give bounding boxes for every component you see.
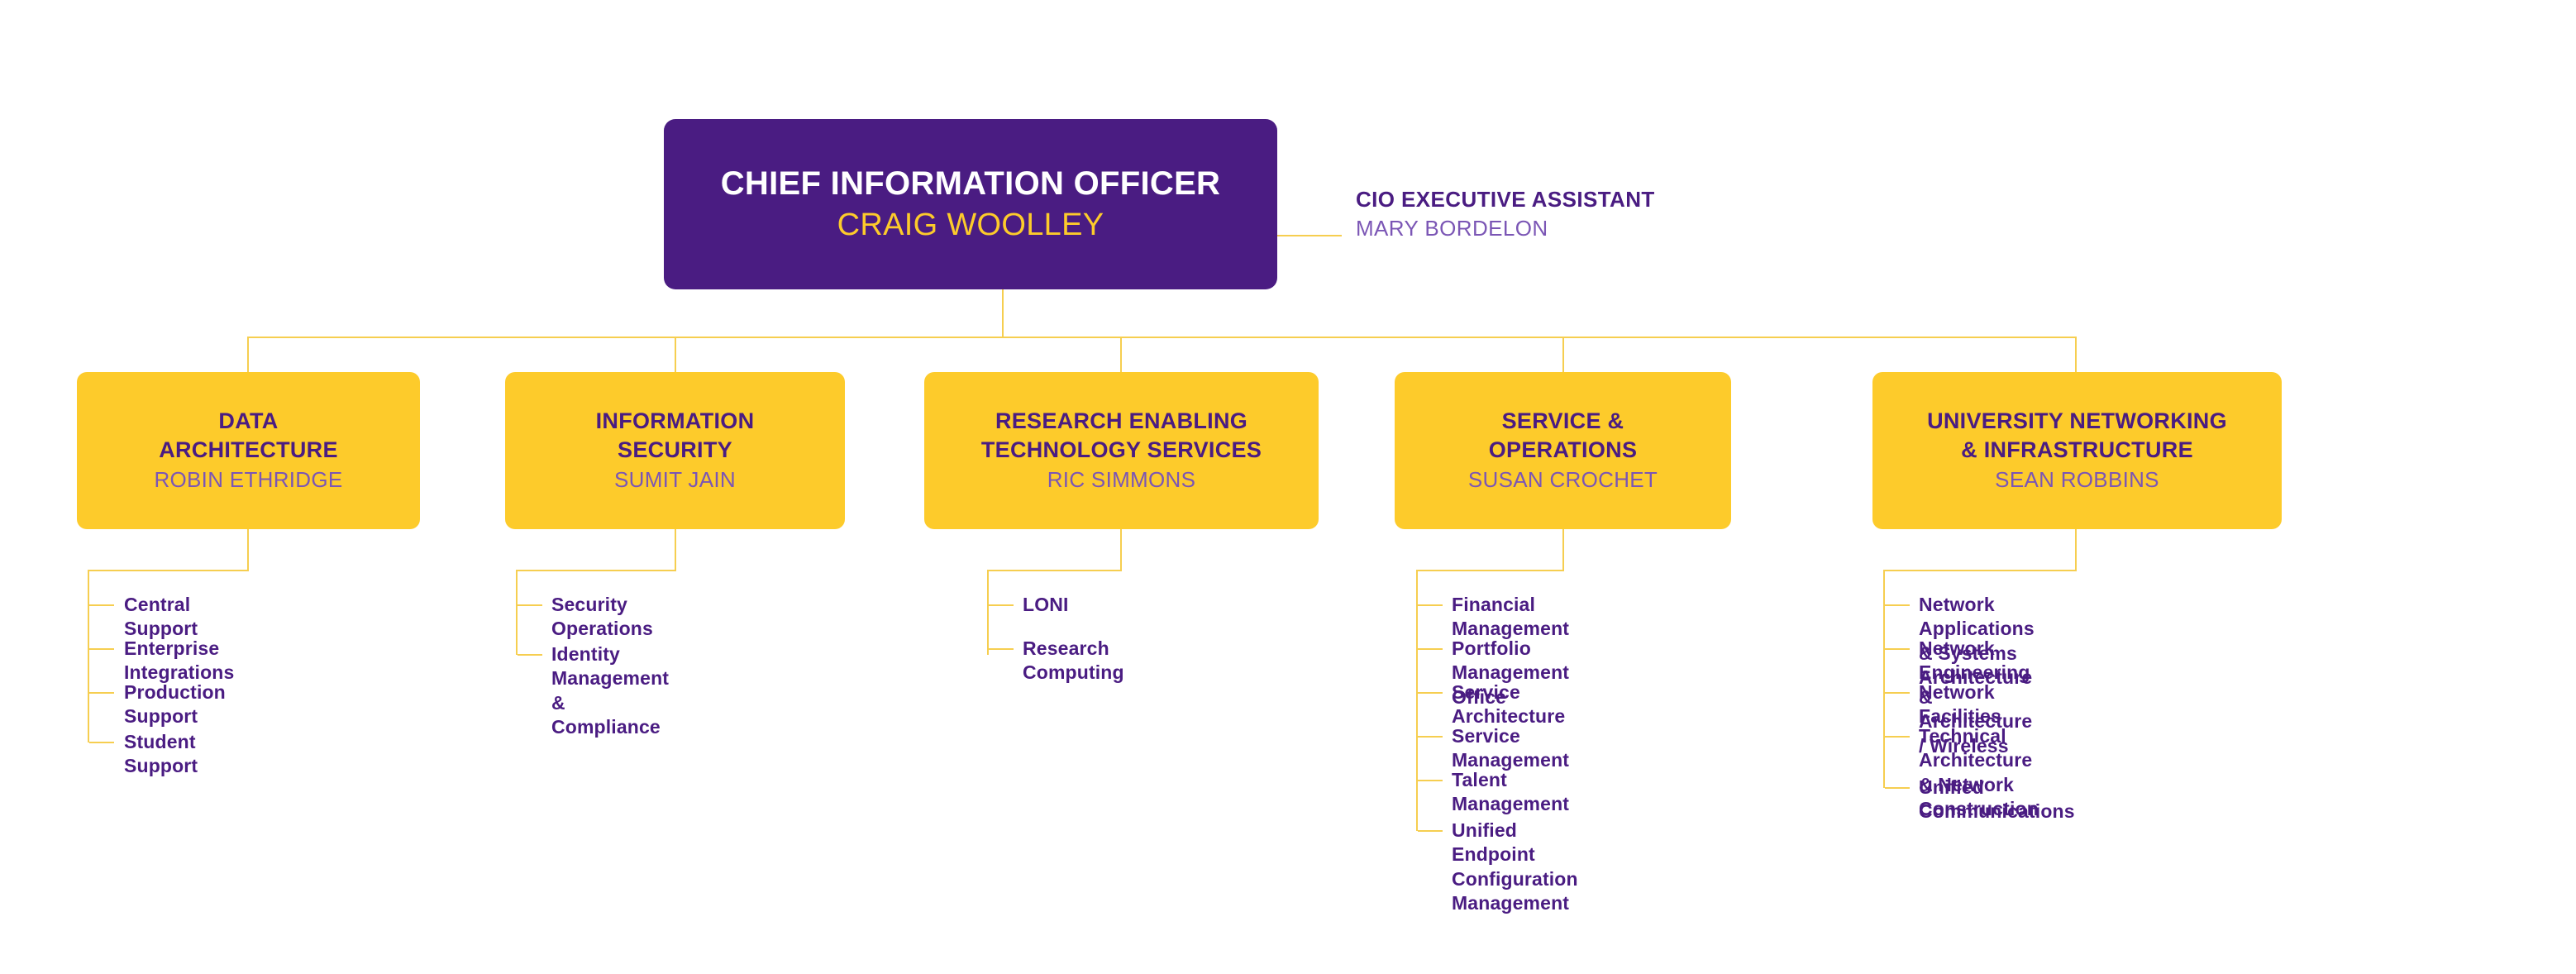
subgroup-drop	[1120, 529, 1122, 571]
org-chart: CHIEF INFORMATION OFFICER CRAIG WOOLLEY …	[0, 0, 2576, 974]
subitem-label[interactable]: Student Support	[124, 730, 198, 779]
subitem-tick	[1418, 604, 1443, 606]
subgroup-elbow	[516, 570, 676, 571]
dept-drop-4	[1562, 337, 1564, 373]
assistant-title: CIO EXECUTIVE ASSISTANT	[1356, 185, 1819, 214]
department-lead-name: ROBIN ETHRIDGE	[154, 466, 342, 494]
subitem-label[interactable]: Central Support	[124, 593, 198, 642]
department-node-data-architecture[interactable]: DATA ARCHITECTURE ROBIN ETHRIDGE	[77, 372, 420, 529]
subgroup-drop	[2075, 529, 2077, 571]
subitem-tick	[1885, 692, 1910, 694]
subitem-tick	[1885, 736, 1910, 738]
subitem-tick	[1418, 736, 1443, 738]
cio-trunk-drop	[1002, 289, 1004, 337]
subitem-label[interactable]: Talent Management	[1452, 768, 1569, 817]
subitem-tick	[989, 604, 1014, 606]
department-title: DATA ARCHITECTURE	[159, 407, 338, 464]
subitem-tick	[89, 692, 114, 694]
subgroup-elbow	[987, 570, 1122, 571]
subitem-tick	[518, 654, 542, 656]
cio-node[interactable]: CHIEF INFORMATION OFFICER CRAIG WOOLLEY	[664, 119, 1277, 289]
department-node-information-security[interactable]: INFORMATION SECURITY SUMIT JAIN	[505, 372, 845, 529]
subitem-label[interactable]: Service Management	[1452, 724, 1569, 773]
subitem-label[interactable]: Enterprise Integrations	[124, 637, 234, 685]
subitem-tick	[989, 648, 1014, 650]
department-title: SERVICE & OPERATIONS	[1489, 407, 1638, 464]
department-node-research-enabling-technology-services[interactable]: RESEARCH ENABLING TECHNOLOGY SERVICES RI…	[924, 372, 1319, 529]
assistant-connector-line	[1277, 235, 1342, 236]
subitem-label[interactable]: Security Operations	[551, 593, 653, 642]
subitem-tick	[89, 742, 114, 743]
subitem-tick	[1885, 787, 1910, 789]
subgroup-elbow	[1883, 570, 2077, 571]
assistant-node: CIO EXECUTIVE ASSISTANT MARY BORDELON	[1356, 185, 1819, 243]
dept-drop-1	[247, 337, 249, 373]
subitem-tick	[1418, 780, 1443, 781]
subgroup-elbow	[88, 570, 249, 571]
department-lead-name: SEAN ROBBINS	[1995, 466, 2159, 494]
subitem-tick	[1885, 604, 1910, 606]
cio-name: CRAIG WOOLLEY	[837, 207, 1104, 244]
department-lead-name: SUMIT JAIN	[614, 466, 736, 494]
subitem-label[interactable]: LONI	[1023, 593, 1069, 617]
subitem-label[interactable]: Financial Management	[1452, 593, 1569, 642]
subitem-tick	[518, 604, 542, 606]
subitem-tick	[89, 648, 114, 650]
subgroup-elbow	[1416, 570, 1564, 571]
subgroup-rail	[987, 570, 989, 655]
department-title: UNIVERSITY NETWORKING & INFRASTRUCTURE	[1927, 407, 2227, 464]
subitem-label[interactable]: Production Support	[124, 680, 226, 729]
subitem-tick	[1418, 692, 1443, 694]
department-node-university-networking-infrastructure[interactable]: UNIVERSITY NETWORKING & INFRASTRUCTURE S…	[1872, 372, 2282, 529]
department-lead-name: SUSAN CROCHET	[1468, 466, 1658, 494]
subitem-label[interactable]: Research Computing	[1023, 637, 1124, 685]
subgroup-rail	[88, 570, 89, 742]
subitem-label[interactable]: Network Facilities	[1919, 680, 2001, 729]
subgroup-rail	[1883, 570, 1885, 788]
subgroup-rail	[516, 570, 518, 655]
department-bus	[248, 337, 2077, 338]
subitem-label[interactable]: Identity Management & Compliance	[551, 642, 669, 740]
subgroup-drop	[247, 529, 249, 571]
department-title: INFORMATION SECURITY	[596, 407, 755, 464]
cio-title: CHIEF INFORMATION OFFICER	[721, 165, 1221, 203]
dept-drop-5	[2075, 337, 2077, 373]
subitem-tick	[1418, 648, 1443, 650]
subitem-tick	[89, 604, 114, 606]
department-title: RESEARCH ENABLING TECHNOLOGY SERVICES	[981, 407, 1262, 464]
dept-drop-3	[1120, 337, 1122, 373]
dept-drop-2	[675, 337, 676, 373]
subgroup-rail	[1416, 570, 1418, 831]
subitem-label[interactable]: Unified Endpoint Configuration Managemen…	[1452, 819, 1578, 916]
department-lead-name: RIC SIMMONS	[1047, 466, 1196, 494]
assistant-name: MARY BORDELON	[1356, 214, 1819, 243]
subitem-tick	[1885, 648, 1910, 650]
subitem-label[interactable]: Unified Communications	[1919, 776, 2075, 824]
department-node-service-operations[interactable]: SERVICE & OPERATIONS SUSAN CROCHET	[1395, 372, 1731, 529]
subitem-tick	[1418, 830, 1443, 832]
subgroup-drop	[675, 529, 676, 571]
subgroup-drop	[1562, 529, 1564, 571]
subitem-label[interactable]: Service Architecture	[1452, 680, 1565, 729]
